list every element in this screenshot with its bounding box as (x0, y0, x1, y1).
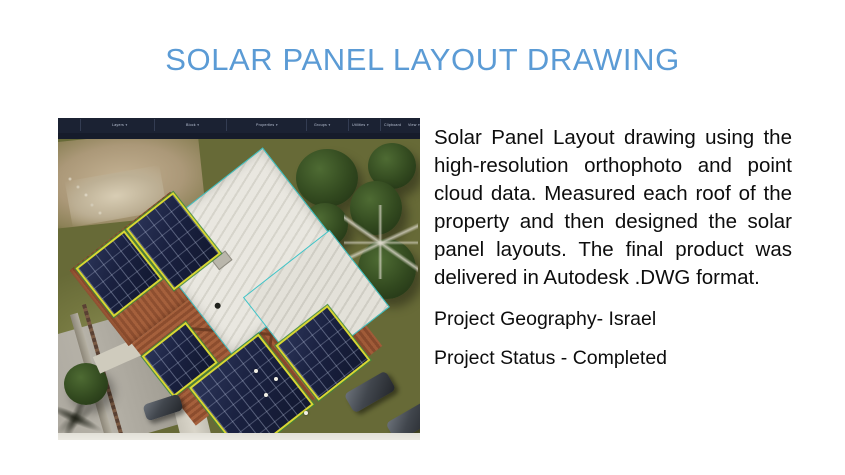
survey-point-marker (304, 411, 308, 415)
ribbon-panel-groups[interactable]: Groups▾ (314, 120, 330, 130)
description-paragraph: Solar Panel Layout drawing using the hig… (434, 124, 792, 292)
ribbon-panel-layers-label: Layers (112, 123, 124, 127)
survey-point-marker (274, 377, 278, 381)
cad-screenshot-image: Layers▾ Block▾ Properties▾ Groups▾ Utili… (58, 118, 420, 440)
viewport-bottom-band (58, 433, 420, 440)
ribbon-panel-properties-label: Properties (256, 123, 274, 127)
chevron-down-icon[interactable]: ▾ (197, 123, 199, 127)
ribbon-panel-layers[interactable]: Layers▾ (112, 120, 127, 130)
ribbon-panel-utilities[interactable]: Utilities▾ (352, 120, 369, 130)
chevron-down-icon[interactable]: ▾ (329, 123, 331, 127)
survey-point-marker (264, 393, 268, 397)
ribbon-divider (154, 119, 155, 131)
ribbon-panel-block-label: Block (186, 123, 196, 127)
description-column: Solar Panel Layout drawing using the hig… (434, 124, 792, 372)
chevron-down-icon[interactable]: ▾ (367, 123, 369, 127)
ribbon-panel-clipboard[interactable]: Clipboard (384, 120, 401, 130)
cad-ribbon-toolbar: Layers▾ Block▾ Properties▾ Groups▾ Utili… (58, 118, 420, 134)
chevron-down-icon[interactable]: ▾ (126, 123, 128, 127)
ribbon-panel-block[interactable]: Block▾ (186, 120, 199, 130)
ribbon-divider (226, 119, 227, 131)
ribbon-panel-groups-label: Groups (314, 123, 327, 127)
chevron-down-icon[interactable]: ▾ (418, 123, 420, 127)
project-status-line: Project Status - Completed (434, 344, 792, 372)
rock-border (66, 175, 118, 215)
ribbon-divider (348, 119, 349, 131)
ribbon-divider (80, 119, 81, 131)
ribbon-divider (380, 119, 381, 131)
cad-ribbon-secondary-bar (58, 133, 420, 139)
chevron-down-icon[interactable]: ▾ (276, 123, 278, 127)
page-title: SOLAR PANEL LAYOUT DRAWING (0, 42, 845, 78)
ribbon-panel-view[interactable]: View▾ (408, 120, 420, 130)
ribbon-panel-utilities-label: Utilities (352, 123, 365, 127)
orthophoto-viewport[interactable] (58, 139, 420, 433)
project-geography-line: Project Geography- Israel (434, 305, 792, 333)
survey-point-marker (254, 369, 258, 373)
ribbon-divider (306, 119, 307, 131)
ribbon-panel-clipboard-label: Clipboard (384, 123, 401, 127)
ribbon-panel-properties[interactable]: Properties▾ (256, 120, 278, 130)
ribbon-panel-view-label: View (408, 123, 417, 127)
